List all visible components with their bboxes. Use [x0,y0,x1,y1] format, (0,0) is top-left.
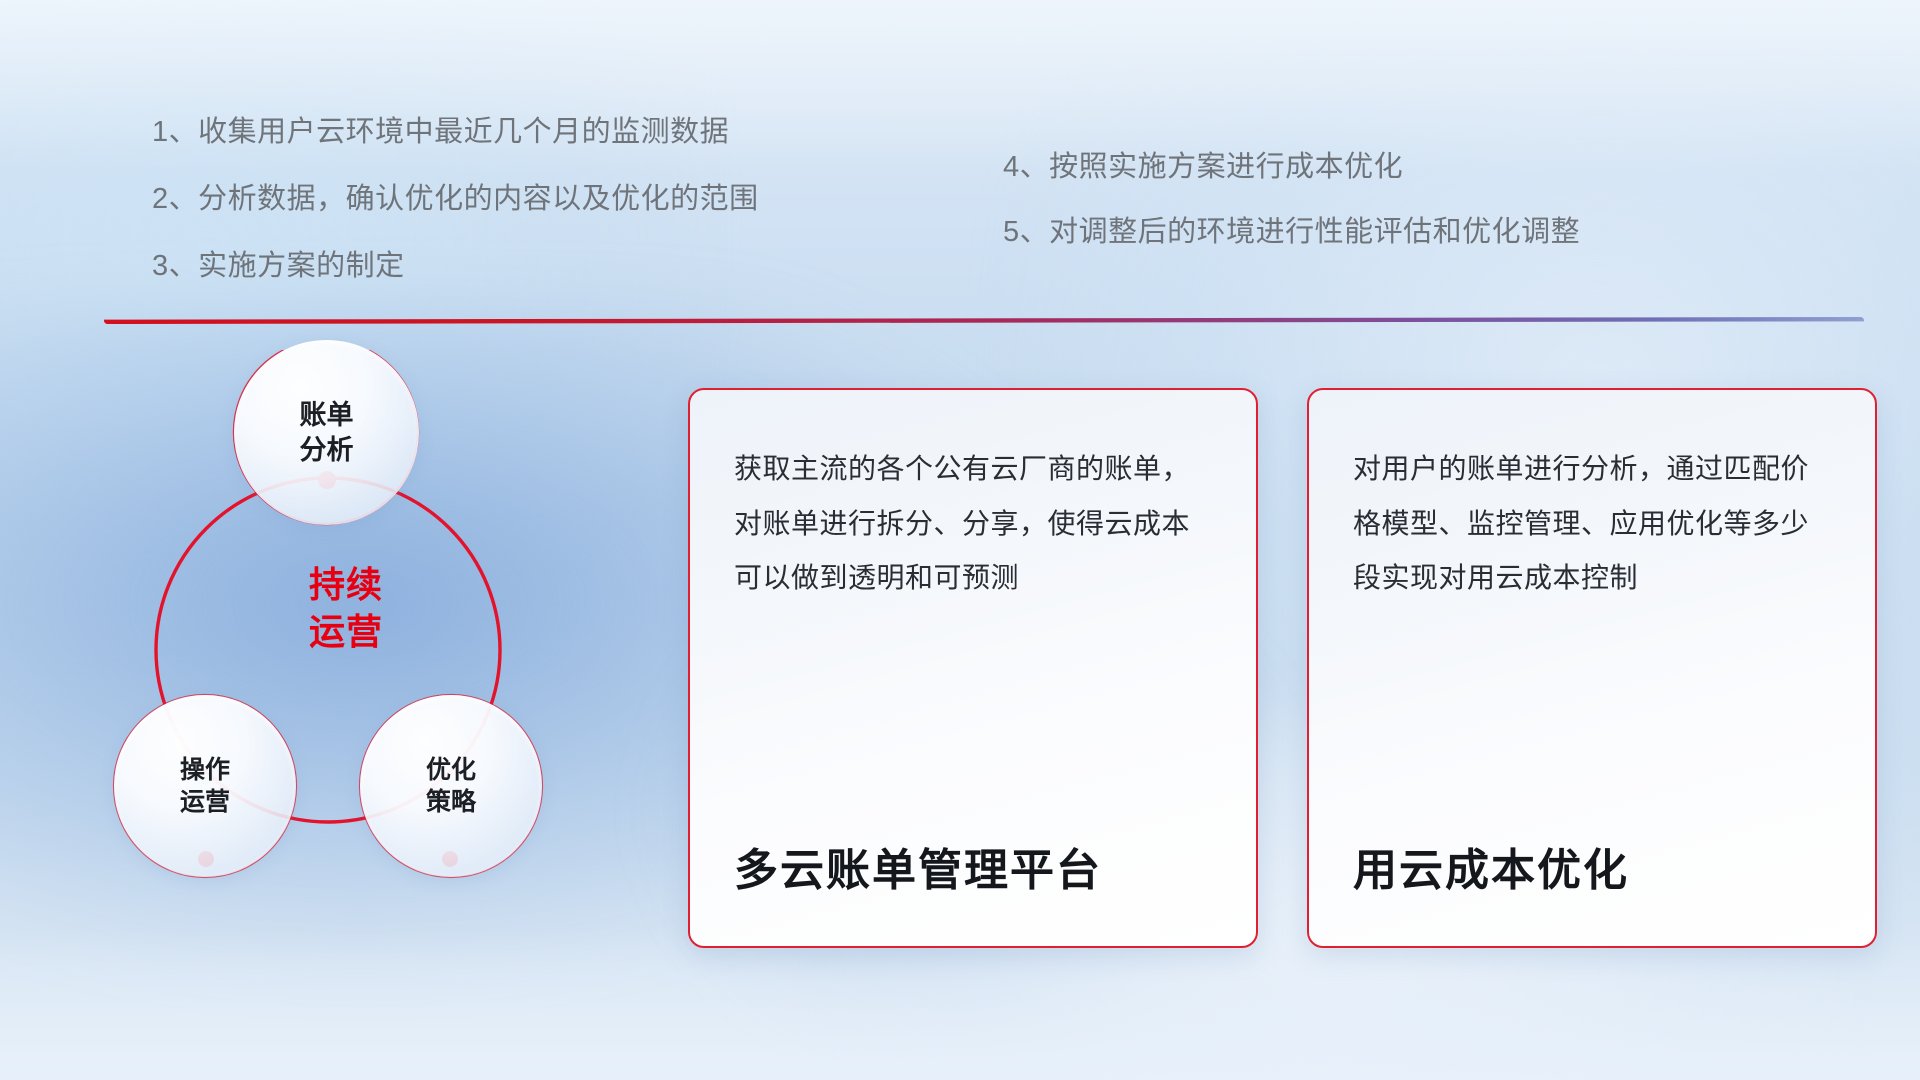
bubble-bill-analysis[interactable]: 账单 分析 [234,340,419,525]
center-label-line2: 运营 [266,609,426,656]
bubble-operation-line1: 操作 [180,754,230,786]
bubble-optimization-line1: 优化 [426,754,476,786]
diagram-center-label: 持续 运营 [266,562,426,656]
bubble-optimization-strategy[interactable]: 优化 策略 [360,695,542,877]
step-item-5: 5、对调整后的环境进行性能评估和优化调整 [1003,218,1580,247]
card-multi-cloud-billing-divider [734,797,1212,804]
bubble-bill-analysis-line1: 账单 [300,398,354,433]
bubble-bill-analysis-line2: 分析 [300,433,354,468]
bubble-optimization-line2: 策略 [426,786,476,818]
step-item-4: 4、按照实施方案进行成本优化 [1003,153,1580,182]
card-multi-cloud-billing-title: 多云账单管理平台 [734,804,1212,946]
card-cloud-cost-optimization-divider [1353,797,1831,804]
card-multi-cloud-billing[interactable]: 获取主流的各个公有云厂商的账单，对账单进行拆分、分享，使得云成本可以做到透明和可… [688,388,1258,948]
center-label-line1: 持续 [266,562,426,609]
bubble-operation[interactable]: 操作 运营 [114,695,296,877]
slide-content: 1、收集用户云环境中最近几个月的监测数据 2、分析数据，确认优化的内容以及优化的… [0,0,1920,1080]
card-cloud-cost-optimization-title: 用云成本优化 [1353,804,1831,946]
steps-column-right: 4、按照实施方案进行成本优化 5、对调整后的环境进行性能评估和优化调整 [1003,153,1580,283]
step-item-2: 2、分析数据，确认优化的内容以及优化的范围 [152,185,759,214]
venn-diagram: 账单 分析 操作 运营 优化 策略 持续 运营 [98,350,638,950]
card-multi-cloud-billing-body: 获取主流的各个公有云厂商的账单，对账单进行拆分、分享，使得云成本可以做到透明和可… [734,442,1212,606]
step-item-1: 1、收集用户云环境中最近几个月的监测数据 [152,118,759,147]
card-cloud-cost-optimization-body: 对用户的账单进行分析，通过匹配价格模型、监控管理、应用优化等多少段实现对用云成本… [1353,442,1831,606]
steps-column-left: 1、收集用户云环境中最近几个月的监测数据 2、分析数据，确认优化的内容以及优化的… [152,118,759,319]
bubble-operation-line2: 运营 [180,786,230,818]
step-item-3: 3、实施方案的制定 [152,252,759,281]
card-cloud-cost-optimization[interactable]: 对用户的账单进行分析，通过匹配价格模型、监控管理、应用优化等多少段实现对用云成本… [1307,388,1877,948]
